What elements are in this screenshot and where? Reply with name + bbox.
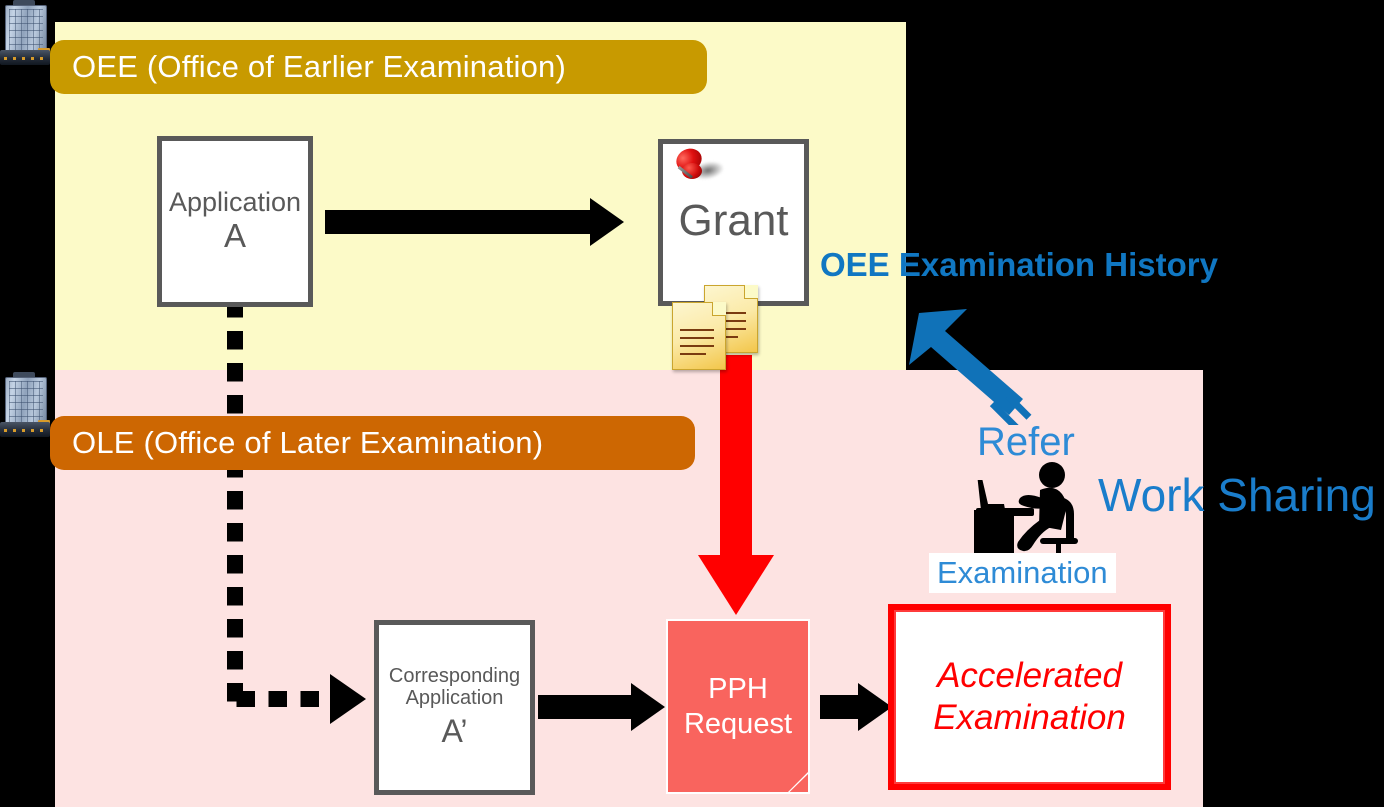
corresponding-application-line3: A’ (441, 712, 467, 750)
dotted-connector-arrowhead (330, 674, 366, 724)
ole-banner: OLE (Office of Later Examination) (50, 416, 695, 470)
accelerated-line1: Accelerated (933, 655, 1126, 697)
oee-banner: OEE (Office of Earlier Examination) (50, 40, 707, 94)
diagram-canvas: OEE (Office of Earlier Examination) OLE … (0, 0, 1384, 807)
work-sharing-label: Work Sharing (1098, 468, 1376, 522)
dotted-connector-vertical (227, 307, 243, 707)
application-a-line1: Application (169, 188, 301, 216)
application-a-box: Application A (157, 136, 313, 307)
arrow-corresponding-to-pph (538, 683, 668, 731)
dotted-connector-horizontal (227, 691, 342, 707)
office-building-icon-oee (0, 0, 50, 68)
stacked-documents-icon (672, 285, 767, 367)
oee-banner-label: OEE (Office of Earlier Examination) (72, 49, 566, 85)
office-building-icon-ole (0, 372, 50, 440)
oee-examination-history-label: OEE Examination History (820, 246, 1218, 284)
examination-label: Examination (929, 553, 1116, 593)
corresponding-application-box: Corresponding Application A’ (374, 620, 535, 795)
grant-label: Grant (678, 196, 788, 246)
ole-banner-label: OLE (Office of Later Examination) (72, 425, 543, 461)
examiner-at-desk-icon (968, 458, 1084, 563)
accelerated-examination-box: Accelerated Examination (888, 604, 1171, 790)
pph-request-box: PPH Request (666, 619, 810, 794)
blue-arrow-up-left (905, 295, 1045, 425)
pph-request-line2: Request (684, 707, 792, 741)
red-arrow-down (720, 355, 752, 615)
corresponding-application-line1: Corresponding (389, 665, 520, 687)
pph-request-line1: PPH (708, 672, 768, 706)
corresponding-application-line2: Application (406, 687, 504, 709)
arrow-application-to-grant (325, 198, 625, 246)
push-pin-icon (672, 146, 726, 200)
accelerated-line2: Examination (933, 697, 1126, 739)
application-a-line2: A (224, 217, 246, 255)
